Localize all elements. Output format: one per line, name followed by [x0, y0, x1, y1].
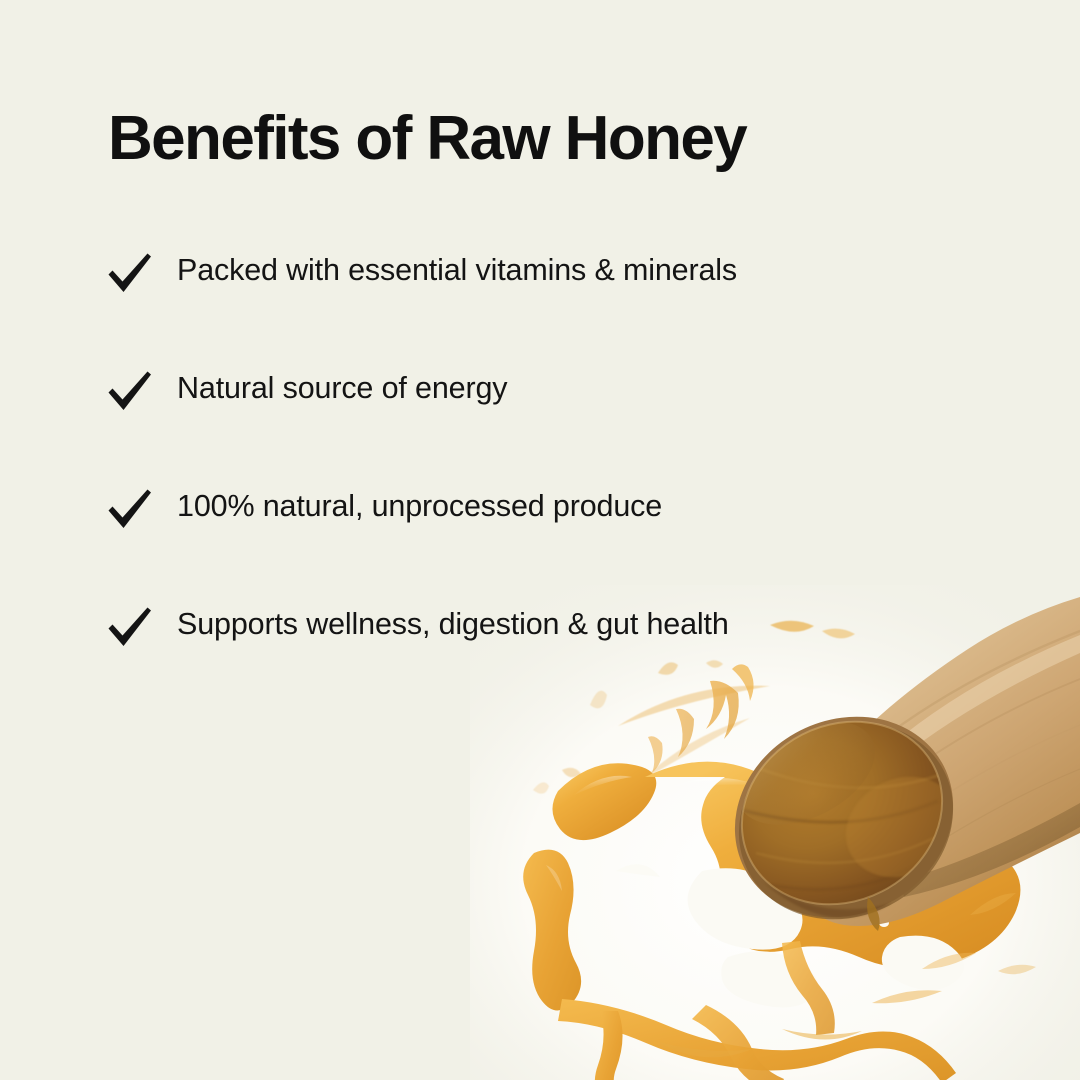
list-item: Packed with essential vitamins & mineral…	[104, 246, 884, 364]
check-icon	[104, 484, 156, 536]
list-item: Supports wellness, digestion & gut healt…	[104, 600, 884, 718]
check-icon	[104, 366, 156, 418]
list-item: 100% natural, unprocessed produce	[104, 482, 884, 600]
check-icon	[104, 248, 156, 300]
benefit-label: 100% natural, unprocessed produce	[177, 482, 884, 530]
benefit-label: Packed with essential vitamins & mineral…	[177, 246, 884, 294]
page-title: Benefits of Raw Honey	[108, 106, 746, 171]
benefit-label: Natural source of energy	[177, 364, 884, 412]
benefit-label: Supports wellness, digestion & gut healt…	[177, 600, 884, 648]
list-item: Natural source of energy	[104, 364, 884, 482]
benefits-list: Packed with essential vitamins & mineral…	[104, 246, 884, 718]
check-icon	[104, 602, 156, 654]
poster-canvas: Benefits of Raw Honey Packed with essent…	[0, 0, 1080, 1080]
